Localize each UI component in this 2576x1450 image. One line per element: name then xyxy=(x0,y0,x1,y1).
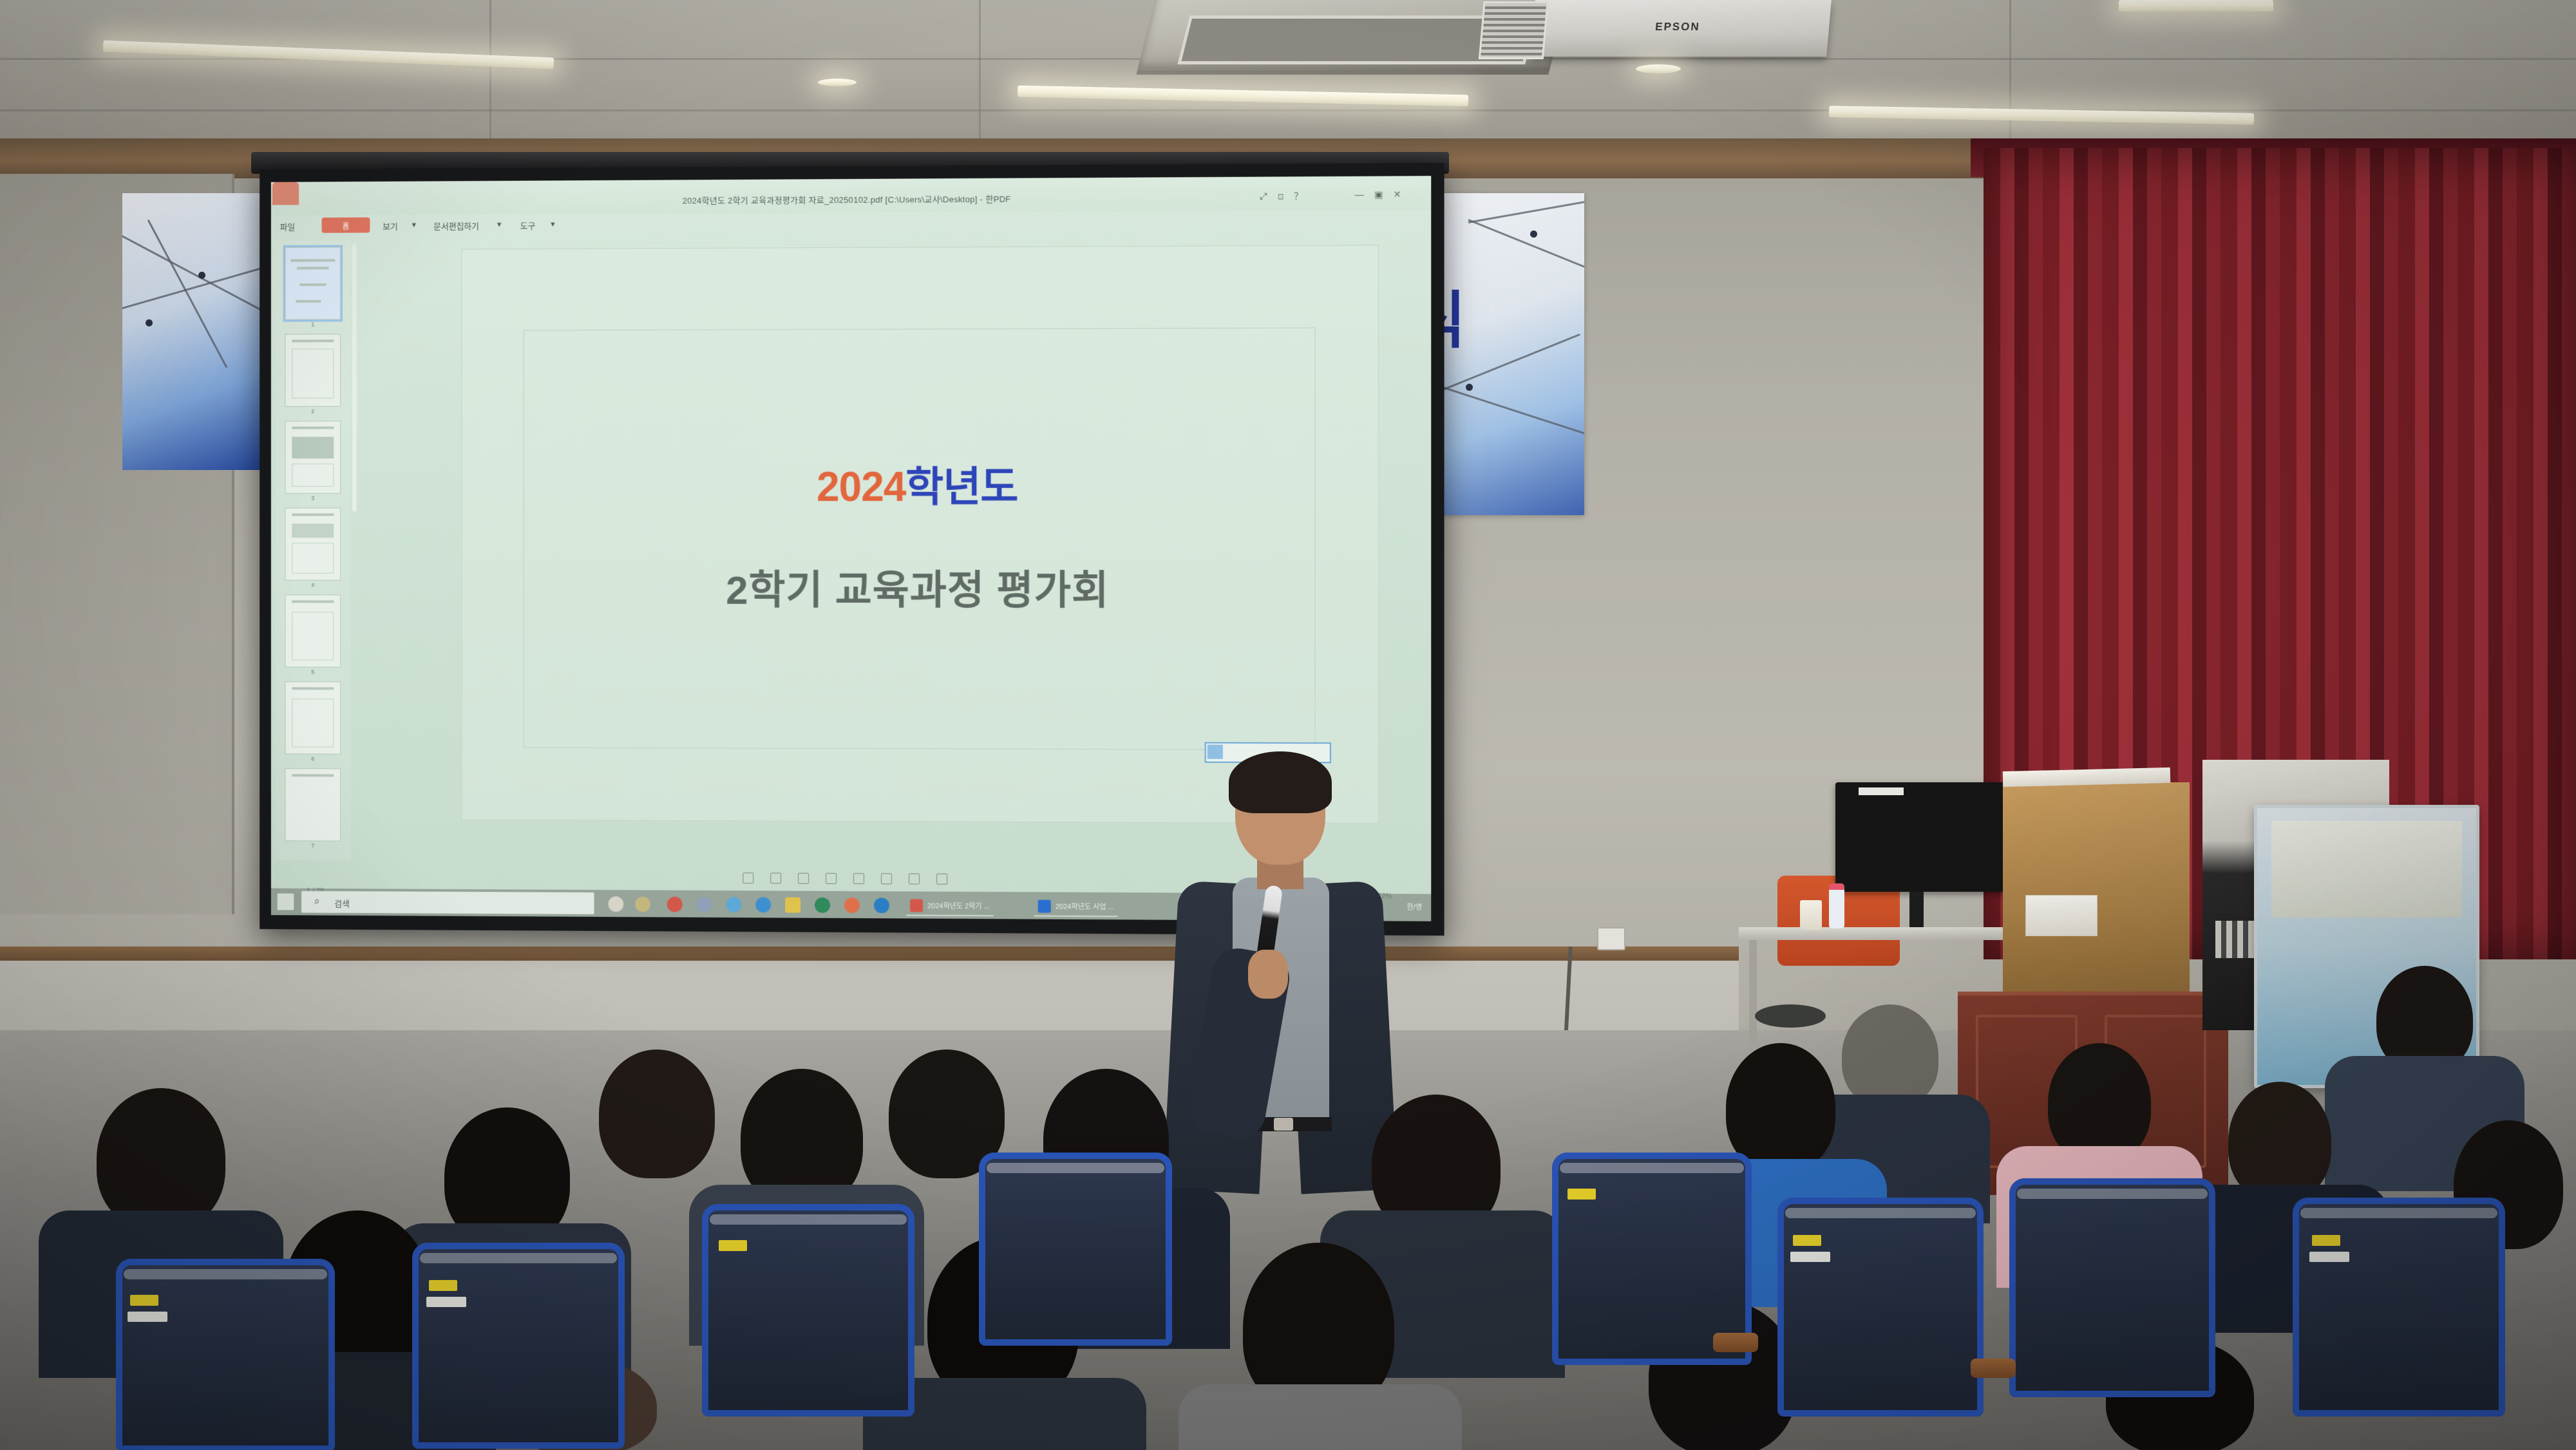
taskbar-search-placeholder: 검색 xyxy=(334,897,350,909)
auditorium-seat xyxy=(702,1204,914,1417)
auditorium-photo: EPSON 식 xyxy=(0,0,2576,1450)
thumbnail-page-6[interactable] xyxy=(285,681,341,754)
explorer-icon[interactable] xyxy=(785,898,800,913)
menu-item-edit-document[interactable]: 문서편집하기 xyxy=(433,220,479,232)
seat-number-tag xyxy=(1793,1235,1821,1246)
thumbnail-scrollbar[interactable] xyxy=(352,243,357,511)
thumbnail-page-number: 1 xyxy=(275,321,351,328)
seat-number-tag xyxy=(130,1295,158,1306)
tissue-box xyxy=(2025,895,2098,936)
zoom-in-icon[interactable] xyxy=(936,873,947,884)
seat-armrest xyxy=(1971,1359,2016,1378)
select-tool-icon[interactable] xyxy=(770,872,781,883)
page-fit-icon[interactable] xyxy=(798,872,809,883)
seat-number-tag xyxy=(2312,1235,2340,1246)
stool xyxy=(1755,1004,1826,1028)
menu-item-home[interactable]: 홈 xyxy=(322,218,370,233)
hancom-pdf-icon xyxy=(910,899,923,912)
edge-icon[interactable] xyxy=(874,898,889,913)
edge-legacy-icon[interactable] xyxy=(697,897,712,912)
pdf-page-canvas[interactable]: 2024학년도 2학기 교육과정 평가회 xyxy=(462,245,1379,824)
menu-item-tools-caret[interactable]: ▾ xyxy=(551,219,554,229)
menu-item-home-label: 홈 xyxy=(322,221,370,232)
presenter-hand xyxy=(1248,950,1288,999)
audience-head xyxy=(1842,1004,1938,1107)
seat-info-label xyxy=(426,1297,466,1307)
presenter-hair xyxy=(1229,751,1332,813)
thumbnail-page-7[interactable] xyxy=(285,768,341,841)
plant-icon[interactable] xyxy=(635,896,650,912)
thumbnail-page-number: 3 xyxy=(275,495,351,502)
menu-item-view-caret[interactable]: ▾ xyxy=(412,220,416,230)
auditorium-seat xyxy=(116,1259,335,1450)
menu-item-view[interactable]: 보기 xyxy=(383,220,398,232)
thumbnail-page-number: 5 xyxy=(275,668,351,675)
audience-shoulders xyxy=(1179,1384,1462,1450)
audience-head xyxy=(1726,1043,1835,1172)
thumbnail-page-number: 6 xyxy=(275,755,351,762)
pdf-icon[interactable] xyxy=(667,897,683,912)
epson-projector: EPSON xyxy=(1530,0,1832,57)
paper-cup xyxy=(1800,900,1822,930)
audience-head xyxy=(2228,1082,2331,1201)
slide-title-line-1: 2024학년도 xyxy=(462,453,1378,513)
seat-info-label xyxy=(128,1312,167,1322)
menu-item-file[interactable]: 파일 xyxy=(280,220,296,232)
auditorium-seat xyxy=(412,1243,625,1449)
auditorium-seat xyxy=(1777,1198,1984,1417)
page-thumbnail-panel[interactable]: 1 2 3 xyxy=(275,240,351,860)
thumbnail-page-2[interactable] xyxy=(285,334,341,406)
hancom-office-icon xyxy=(1038,900,1051,913)
thumbnail-page-number: 4 xyxy=(275,582,351,588)
auditorium-seat xyxy=(2293,1198,2505,1417)
audience-head xyxy=(599,1050,715,1178)
chrome-icon[interactable] xyxy=(844,898,860,913)
audience-head xyxy=(97,1088,225,1230)
projector-vent-icon xyxy=(1479,1,1549,59)
thumbnail-page-5[interactable] xyxy=(285,594,341,667)
auditorium-seat xyxy=(979,1153,1172,1346)
projector-brand-label: EPSON xyxy=(1654,21,1700,33)
slide-year-number: 2024 xyxy=(817,464,905,510)
power-outlet xyxy=(1597,927,1625,950)
ie-icon[interactable] xyxy=(755,897,771,912)
menu-item-edit-caret[interactable]: ▾ xyxy=(497,220,501,230)
slide-border xyxy=(524,328,1316,750)
thumbnail-page-1[interactable] xyxy=(285,247,341,319)
desk-leg xyxy=(1749,940,1757,1043)
window-minmax-close-icons[interactable]: — ▣ ✕ xyxy=(1355,189,1405,201)
lectern-display xyxy=(2271,821,2462,918)
taskbar-window-label: 2024학년도 2학기 ... xyxy=(927,901,990,912)
seat-armrest xyxy=(1713,1333,1758,1352)
taskbar-window-label: 2024학년도 사업 ... xyxy=(1056,901,1114,912)
seat-info-label xyxy=(1790,1252,1830,1262)
search-icon: ⌕ xyxy=(314,896,320,908)
audience-head xyxy=(2048,1043,2151,1162)
slide-title-line-2: 2학기 교육과정 평가회 xyxy=(462,558,1378,616)
ceiling-light xyxy=(818,79,857,86)
thumbnail-page-4[interactable] xyxy=(285,507,341,580)
seat-number-tag xyxy=(1567,1189,1596,1200)
continuous-page-icon[interactable] xyxy=(881,873,892,884)
presenter xyxy=(1166,757,1397,1220)
seat-number-tag xyxy=(429,1280,457,1291)
window-title: 2024학년도 2학기 교육과정평가회 자료_20250102.pdf [C:\… xyxy=(271,190,1431,208)
auditorium-seat xyxy=(2009,1178,2215,1397)
thumbnail-page-number: 7 xyxy=(275,842,351,849)
twitter-icon[interactable] xyxy=(726,897,741,912)
taskbar-window-office[interactable]: 2024학년도 사업 ... xyxy=(1034,897,1118,917)
av-monitor xyxy=(1835,782,2009,892)
slide-year-korean: 학년도 xyxy=(905,464,1018,510)
ceiling-light xyxy=(1636,64,1681,73)
window-help-icons[interactable]: ⤢ ⊡ ？ xyxy=(1260,189,1307,202)
thumbnail-page-3[interactable] xyxy=(285,420,341,493)
av-desk xyxy=(1739,927,2048,940)
monitor-label-sticker xyxy=(1859,787,1904,795)
office-icon[interactable] xyxy=(815,898,830,913)
single-page-icon[interactable] xyxy=(853,873,864,884)
thumbnail-page-number: 2 xyxy=(275,408,351,415)
taskbar-window-pdf[interactable]: 2024학년도 2학기 ... xyxy=(906,896,994,916)
seat-number-tag xyxy=(719,1240,747,1251)
taskbar-ime-indicator[interactable]: 한/영 xyxy=(1406,901,1422,912)
monitor-stand xyxy=(1909,892,1924,930)
wall-banner-left xyxy=(122,193,270,470)
hand-tool-icon[interactable] xyxy=(743,872,753,883)
presenter-belt-buckle xyxy=(1274,1118,1293,1131)
people-icon[interactable] xyxy=(608,896,623,912)
app-titlebar: 2024학년도 2학기 교육과정평가회 자료_20250102.pdf [C:\… xyxy=(271,176,1431,215)
ceiling-light xyxy=(2119,0,2273,12)
wall-trim xyxy=(0,946,1739,961)
start-button-icon[interactable] xyxy=(278,894,294,910)
seat-info-label xyxy=(2309,1252,2349,1262)
water-bottle xyxy=(1829,883,1844,928)
menu-item-tools[interactable]: 도구 xyxy=(520,219,536,231)
zoom-out-icon[interactable] xyxy=(909,873,920,884)
page-width-icon[interactable] xyxy=(826,872,837,883)
taskbar-search-box[interactable]: ⌕ 검색 xyxy=(301,891,594,914)
wooden-podium xyxy=(2003,782,2190,1001)
